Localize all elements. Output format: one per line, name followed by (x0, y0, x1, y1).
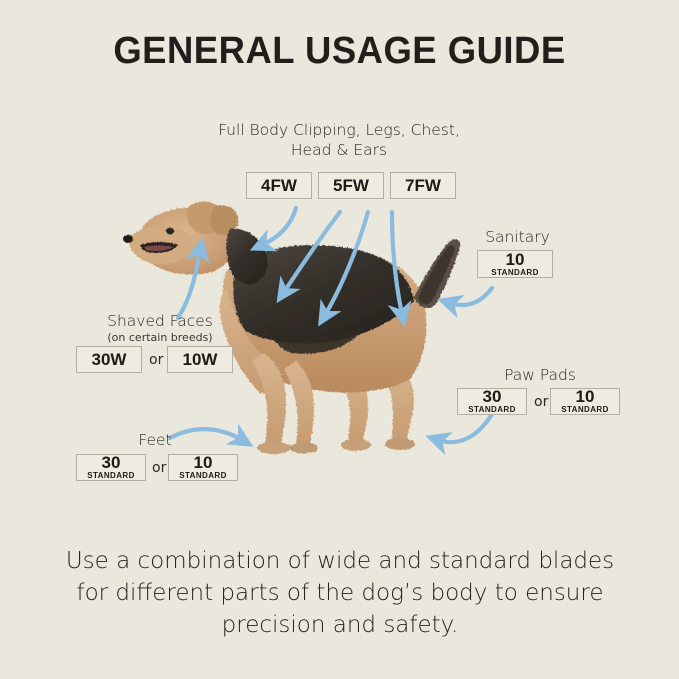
badge-5fw[interactable]: 5FW (318, 172, 384, 199)
badge-30w[interactable]: 30W (76, 346, 142, 373)
badge-10w[interactable]: 10W (167, 346, 233, 373)
shaved-faces-sublabel: (on certain breeds) (75, 331, 245, 344)
usage-guide-poster: GENERAL USAGE GUIDE (0, 0, 679, 679)
badge-paw-pads-30-value: 30 (483, 388, 502, 405)
badge-paw-pads-10-standard[interactable]: 10 STANDARD (550, 388, 620, 415)
shaved-faces-label: Shaved Faces (75, 311, 245, 331)
badge-10w-value: 10W (183, 351, 218, 368)
paw-pads-separator: or (534, 394, 548, 410)
badge-feet-30-unit: STANDARD (87, 471, 135, 481)
feet-label: Feet (110, 430, 200, 450)
paw-pads-label: Paw Pads (470, 365, 610, 385)
badge-5fw-value: 5FW (333, 177, 369, 194)
badge-feet-10-unit: STANDARD (179, 471, 227, 481)
badge-30w-value: 30W (92, 351, 127, 368)
badge-7fw[interactable]: 7FW (390, 172, 456, 199)
badge-paw-pads-10-unit: STANDARD (561, 405, 609, 415)
full-body-label: Full Body Clipping, Legs, Chest, Head & … (189, 120, 489, 160)
full-body-label-line1: Full Body Clipping, Legs, Chest, (189, 120, 489, 140)
badge-sanitary-value: 10 (506, 251, 525, 268)
badge-feet-30-value: 30 (102, 454, 121, 471)
shaved-faces-separator: or (149, 352, 163, 368)
badge-feet-30-standard[interactable]: 30 STANDARD (76, 454, 146, 481)
badge-sanitary-unit: STANDARD (491, 268, 539, 278)
sanitary-label: Sanitary (455, 227, 580, 247)
badge-sanitary-10-standard[interactable]: 10 STANDARD (477, 250, 553, 278)
badge-4fw-value: 4FW (261, 177, 297, 194)
badge-7fw-value: 7FW (405, 177, 441, 194)
full-body-label-line2: Head & Ears (189, 140, 489, 160)
badge-feet-10-standard[interactable]: 10 STANDARD (168, 454, 238, 481)
feet-separator: or (152, 460, 166, 476)
footer-caption: Use a combination of wide and standard b… (55, 545, 625, 641)
badge-paw-pads-30-unit: STANDARD (468, 405, 516, 415)
badge-feet-10-value: 10 (194, 454, 213, 471)
badge-paw-pads-30-standard[interactable]: 30 STANDARD (457, 388, 527, 415)
page-title: GENERAL USAGE GUIDE (14, 30, 666, 73)
badge-paw-pads-10-value: 10 (576, 388, 595, 405)
badge-4fw[interactable]: 4FW (246, 172, 312, 199)
